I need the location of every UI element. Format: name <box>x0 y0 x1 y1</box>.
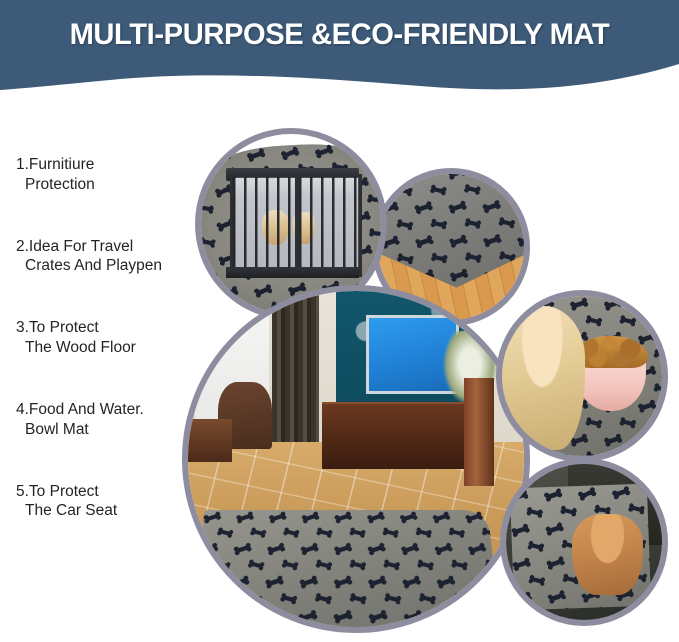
decorative-column <box>464 378 494 486</box>
car-seat-scene <box>506 464 662 620</box>
photo-circle-car-seat <box>500 458 668 626</box>
feature-5-line-1: 5.To Protect <box>16 482 206 502</box>
feature-2-line-1: 2.Idea For Travel <box>16 237 206 257</box>
feature-4-line-2: Bowl Mat <box>16 420 206 440</box>
feature-3-line-1: 3.To Protect <box>16 318 206 338</box>
feature-item-5: 5.To Protect The Car Seat <box>16 482 206 522</box>
feature-1-line-1: 1.Furnitiure <box>16 155 206 175</box>
photo-circle-living-room <box>182 285 530 633</box>
feature-4-line-1: 4.Food And Water. <box>16 400 206 420</box>
header-banner: MULTI-PURPOSE &ECO-FRIENDLY MAT <box>0 0 679 100</box>
product-infographic: MULTI-PURPOSE &ECO-FRIENDLY MAT 1.Furnit… <box>0 0 679 642</box>
crate-door-divider <box>295 177 299 274</box>
page-title: MULTI-PURPOSE &ECO-FRIENDLY MAT <box>10 18 669 52</box>
feature-3-line-2: The Wood Floor <box>16 338 206 358</box>
feature-item-1: 1.Furnitiure Protection <box>16 155 206 195</box>
window-curtain <box>272 291 319 452</box>
crate-cage <box>230 174 362 277</box>
feature-5-line-2: The Car Seat <box>16 501 206 521</box>
feature-item-2: 2.Idea For Travel Crates And Playpen <box>16 237 206 277</box>
crate-base-tray <box>226 267 359 278</box>
photo-circle-food-bowl <box>496 290 668 462</box>
feature-list: 1.Furnitiure Protection 2.Idea For Trave… <box>16 155 206 563</box>
puppy-on-car-seat <box>572 514 644 595</box>
side-table <box>188 419 232 463</box>
feature-item-4: 4.Food And Water. Bowl Mat <box>16 400 206 440</box>
food-bowl-scene <box>502 296 662 456</box>
living-room-scene <box>188 291 524 627</box>
feature-item-3: 3.To Protect The Wood Floor <box>16 318 206 358</box>
kibble-food <box>574 336 648 368</box>
wooden-tv-cabinet <box>322 402 477 469</box>
golden-retriever-on-mat <box>282 469 369 617</box>
golden-retriever-at-bowl <box>496 306 585 450</box>
feature-1-line-2: Protection <box>16 175 206 195</box>
feature-2-line-2: Crates And Playpen <box>16 256 206 276</box>
